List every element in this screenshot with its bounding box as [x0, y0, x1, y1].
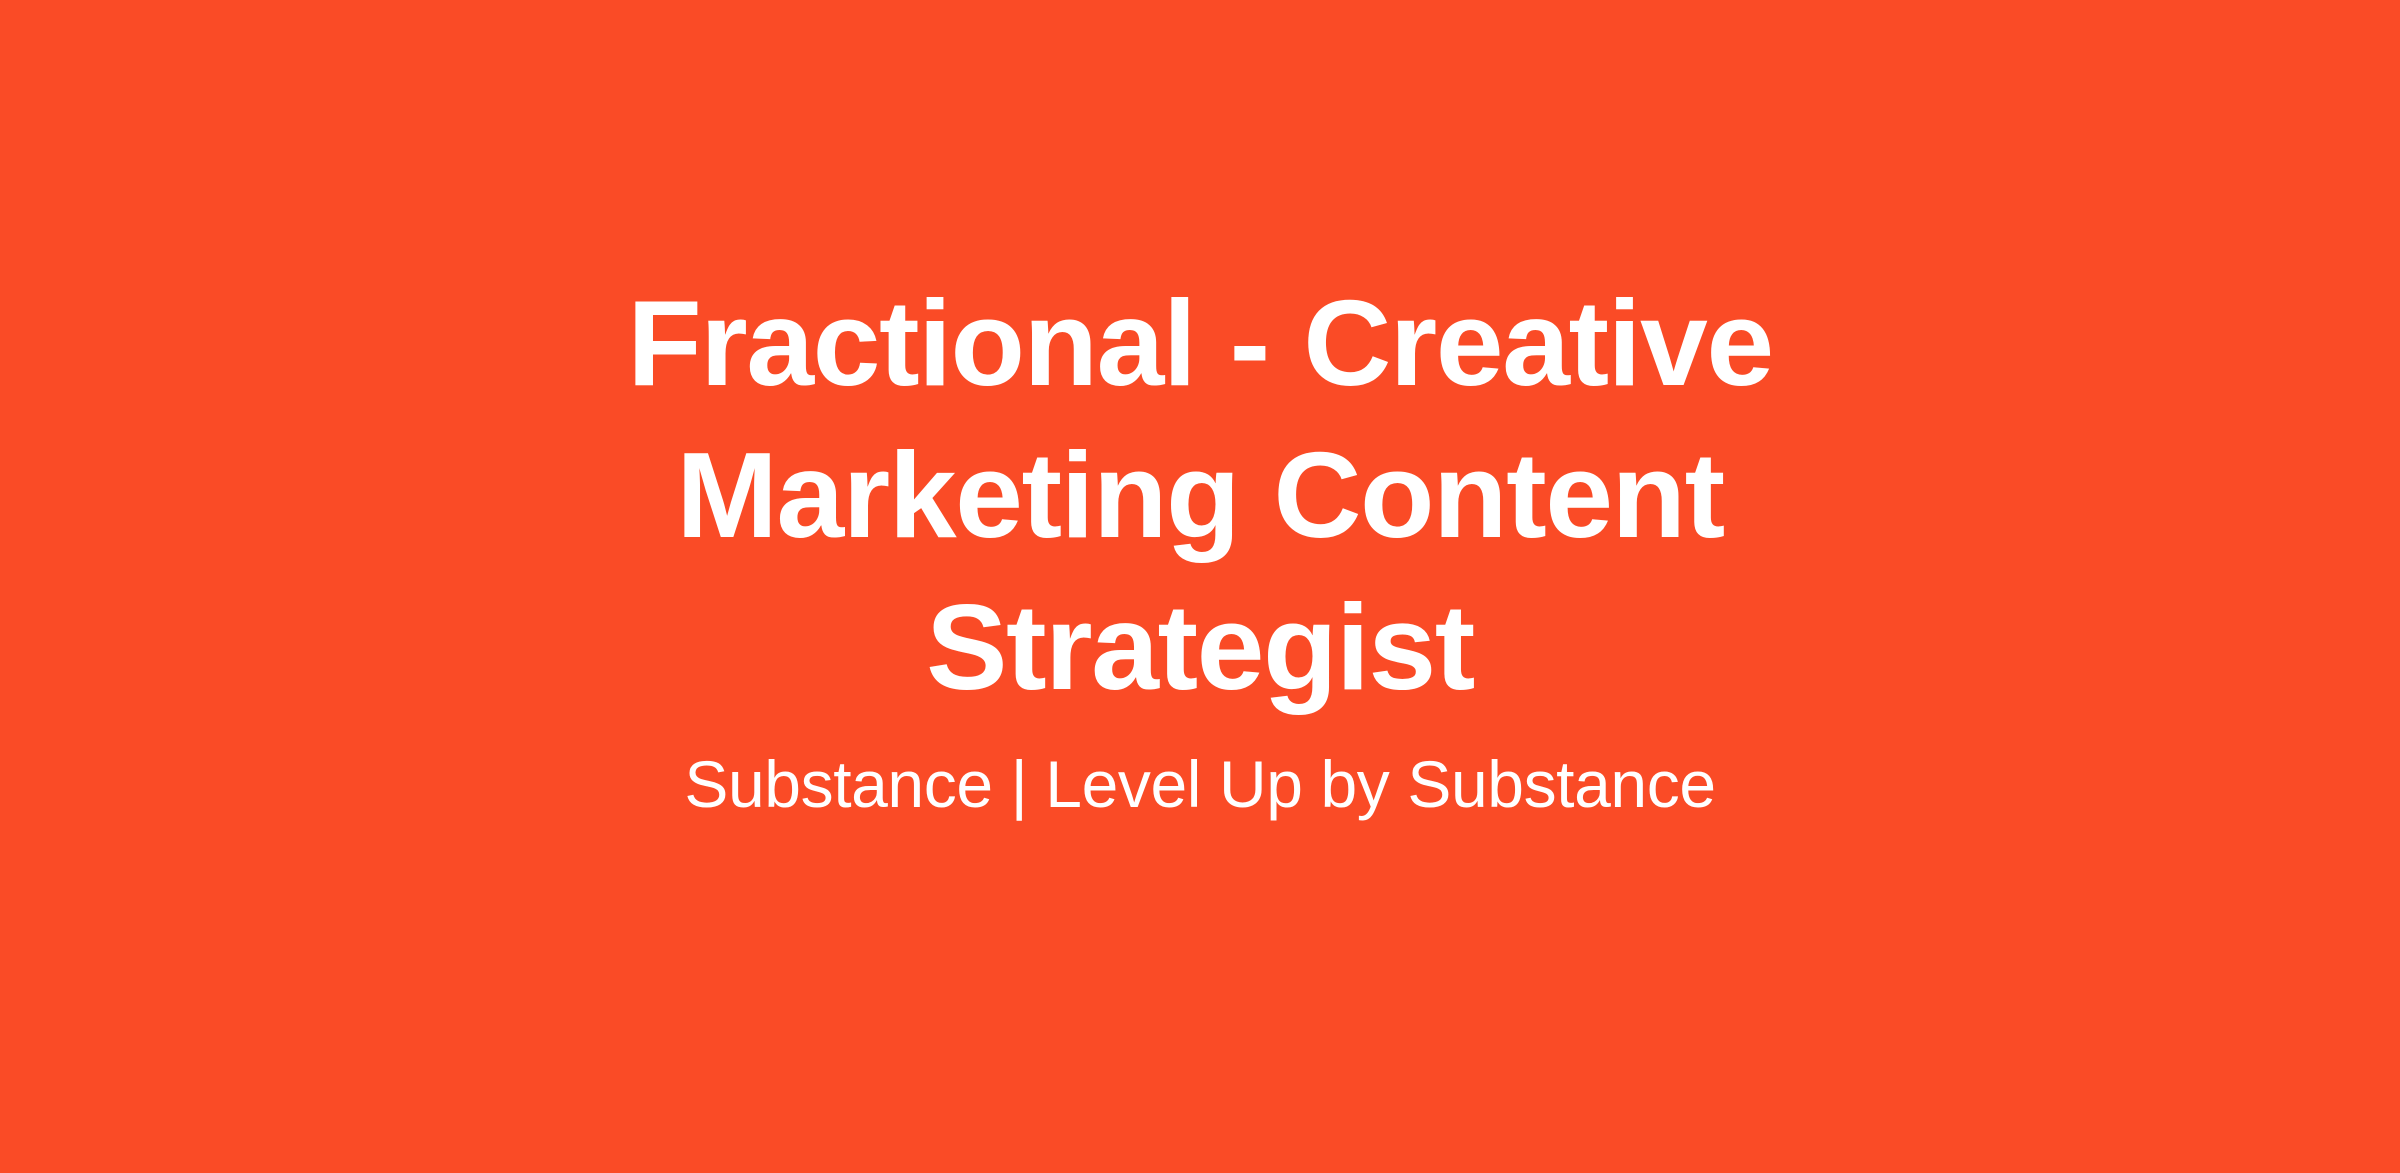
job-posting-card: Fractional - Creative Marketing Content …	[0, 0, 2400, 1173]
company-name: Substance | Level Up by Substance	[480, 745, 1920, 823]
job-title: Fractional - Creative Marketing Content …	[555, 267, 1845, 723]
job-card-content: Fractional - Creative Marketing Content …	[490, 267, 1910, 823]
